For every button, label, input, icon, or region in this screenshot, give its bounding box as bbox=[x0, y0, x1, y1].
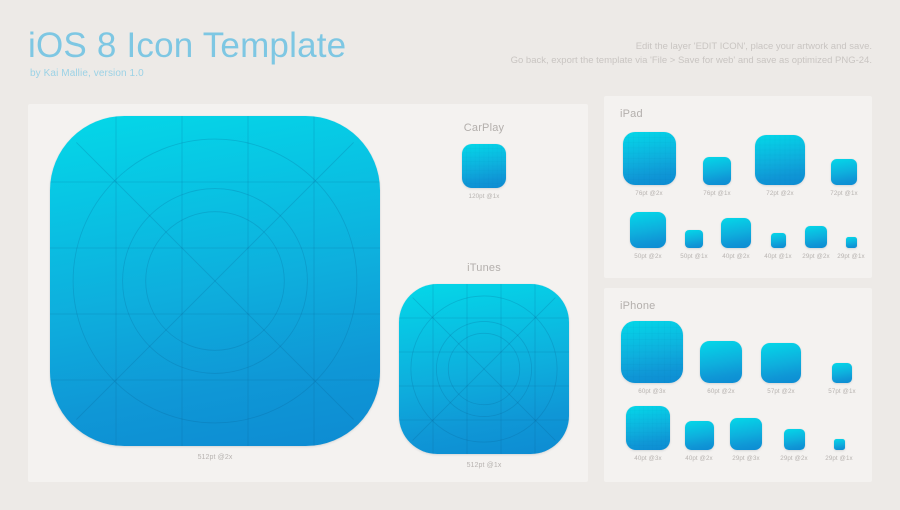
app-icon-squircle[interactable] bbox=[462, 144, 506, 188]
app-icon-squircle[interactable] bbox=[626, 406, 670, 450]
icon-size-label: 72pt @1x bbox=[830, 190, 857, 197]
page-title: iOS 8 Icon Template bbox=[28, 26, 346, 66]
app-icon-squircle[interactable] bbox=[784, 429, 805, 450]
icon-size-label: 76pt @2x bbox=[635, 190, 662, 197]
icon-preview-item[interactable]: 57pt @2x bbox=[753, 343, 809, 395]
main-preview-panel: 512pt @2xCarPlay 120pt @1xiTunes 512pt @… bbox=[28, 104, 588, 482]
icon-preview-item[interactable]: 120pt @1x bbox=[462, 144, 506, 200]
page-header: iOS 8 Icon Template by Kai Mallie, versi… bbox=[0, 0, 900, 92]
app-icon-squircle[interactable] bbox=[755, 135, 805, 185]
app-icon-squircle[interactable] bbox=[834, 439, 845, 450]
app-icon-squircle[interactable] bbox=[685, 230, 703, 248]
app-icon-squircle[interactable] bbox=[761, 343, 801, 383]
icon-size-label: 60pt @3x bbox=[638, 388, 665, 395]
app-icon-squircle[interactable] bbox=[721, 218, 751, 248]
icon-size-label: 120pt @1x bbox=[469, 193, 500, 200]
icon-size-label: 72pt @2x bbox=[766, 190, 793, 197]
icon-size-label: 29pt @1x bbox=[837, 253, 864, 260]
icon-size-label: 29pt @3x bbox=[732, 455, 759, 462]
instruction-line-1: Edit the layer 'EDIT ICON', place your a… bbox=[511, 40, 872, 54]
icon-preview-item[interactable]: 57pt @1x bbox=[814, 363, 870, 395]
iphone-panel-title: iPhone bbox=[620, 300, 655, 312]
icon-size-label: 512pt @1x bbox=[467, 462, 502, 469]
icon-size-label: 57pt @2x bbox=[767, 388, 794, 395]
app-icon-squircle[interactable] bbox=[685, 421, 714, 450]
app-icon-squircle[interactable] bbox=[832, 363, 852, 383]
app-icon-squircle[interactable] bbox=[630, 212, 666, 248]
icon-size-label: 50pt @1x bbox=[680, 253, 707, 260]
app-icon-squircle[interactable] bbox=[623, 132, 676, 185]
app-icon-squircle[interactable] bbox=[846, 237, 857, 248]
page-subtitle: by Kai Mallie, version 1.0 bbox=[30, 68, 144, 79]
icon-preview-item[interactable]: 76pt @1x bbox=[689, 157, 745, 197]
icon-preview-item[interactable]: 60pt @3x bbox=[624, 321, 680, 395]
ipad-panel: iPad 76pt @2x76pt @1x 72pt @2x72pt @1x50… bbox=[604, 96, 872, 278]
icon-size-label: 29pt @1x bbox=[825, 455, 852, 462]
app-icon-squircle[interactable] bbox=[730, 418, 762, 450]
icon-preview-item[interactable]: 76pt @2x bbox=[621, 132, 677, 197]
app-icon-squircle[interactable] bbox=[703, 157, 731, 185]
icon-preview-item[interactable]: 72pt @2x bbox=[752, 135, 808, 197]
icon-preview-item[interactable]: 29pt @1x bbox=[811, 439, 867, 462]
instruction-line-2: Go back, export the template via 'File >… bbox=[511, 54, 872, 68]
icon-preview-item[interactable]: 512pt @2x bbox=[50, 116, 380, 461]
icon-size-label: 40pt @2x bbox=[685, 455, 712, 462]
icon-preview-item[interactable]: 40pt @3x bbox=[620, 406, 676, 462]
itunes-caption: iTunes bbox=[434, 262, 534, 274]
app-icon-squircle[interactable] bbox=[621, 321, 683, 383]
carplay-caption: CarPlay bbox=[434, 122, 534, 134]
app-icon-squircle[interactable] bbox=[700, 341, 742, 383]
ipad-panel-title: iPad bbox=[620, 108, 643, 120]
app-icon-squircle[interactable] bbox=[50, 116, 380, 446]
instructions-text: Edit the layer 'EDIT ICON', place your a… bbox=[511, 40, 872, 68]
app-icon-squircle[interactable] bbox=[399, 284, 569, 454]
icon-size-label: 40pt @2x bbox=[722, 253, 749, 260]
icon-size-label: 50pt @2x bbox=[634, 253, 661, 260]
icon-preview-item[interactable]: 512pt @1x bbox=[399, 284, 569, 469]
icon-size-label: 76pt @1x bbox=[703, 190, 730, 197]
icon-size-label: 57pt @1x bbox=[828, 388, 855, 395]
icon-size-label: 29pt @2x bbox=[780, 455, 807, 462]
icon-preview-item[interactable]: 72pt @1x bbox=[816, 159, 872, 197]
icon-preview-item[interactable]: 60pt @2x bbox=[693, 341, 749, 395]
icon-preview-item[interactable]: 29pt @1x bbox=[823, 237, 879, 260]
app-icon-squircle[interactable] bbox=[831, 159, 857, 185]
app-icon-squircle[interactable] bbox=[771, 233, 786, 248]
iphone-panel: iPhone 60pt @3x60pt @2x57pt @2x57pt @1x … bbox=[604, 288, 872, 482]
icon-size-label: 40pt @3x bbox=[634, 455, 661, 462]
icon-size-label: 512pt @2x bbox=[198, 454, 233, 461]
icon-size-label: 60pt @2x bbox=[707, 388, 734, 395]
